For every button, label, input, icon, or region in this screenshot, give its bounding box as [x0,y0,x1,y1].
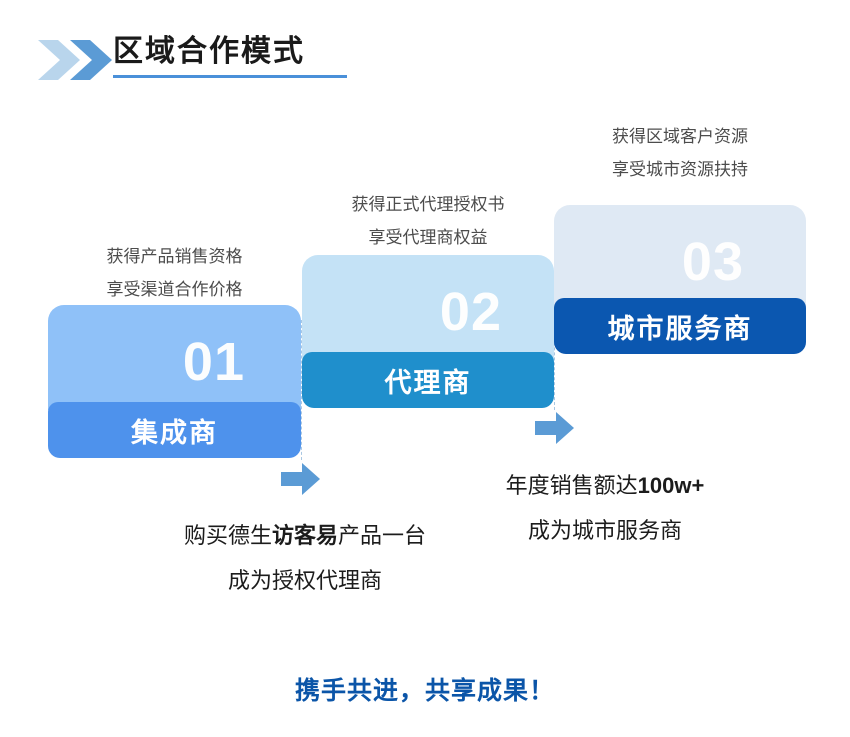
arrow-right-icon-02 [535,411,575,445]
tier-card-03[interactable]: 03 城市服务商 [554,205,806,355]
chevron-light-shape [38,40,80,80]
card-caption-02-line-2: 享受代理商权益 [302,221,554,254]
requirement-01-line-1-emphasis: 访客易 [272,523,338,548]
page-title: 区域合作模式 [113,30,347,74]
card-caption-02-line-1: 获得正式代理授权书 [302,188,554,221]
tier-card-01-number: 01 [183,335,245,389]
card-caption-03: 获得区域客户资源 享受城市资源扶持 [554,120,806,186]
card-caption-01: 获得产品销售资格 享受渠道合作价格 [48,240,301,306]
requirement-01-line-2: 成为授权代理商 [140,558,470,603]
tier-card-01-body: 01 [48,305,301,410]
tier-card-02[interactable]: 02 代理商 [302,255,554,405]
card-caption-02: 获得正式代理授权书 享受代理商权益 [302,188,554,254]
requirement-text-02: 年度销售额达100w+ 成为城市服务商 [440,463,770,553]
requirement-01-line-1-post: 产品一台 [338,523,426,548]
tier-card-03-label-band: 城市服务商 [554,298,806,354]
tier-card-02-number: 02 [440,285,502,339]
requirement-01-line-1: 购买德生访客易产品一台 [140,513,470,558]
tier-card-01[interactable]: 01 集成商 [48,305,301,455]
card-caption-03-line-1: 获得区域客户资源 [554,120,806,153]
infographic-canvas: 区域合作模式 获得产品销售资格 享受渠道合作价格 获得正式代理授权书 享受代理商… [0,0,850,737]
arrow-right-icon-01 [281,462,321,496]
tier-card-03-number: 03 [682,235,744,289]
requirement-02-line-1-pre: 年度销售额达 [506,473,638,498]
requirement-02-line-2: 成为城市服务商 [440,508,770,553]
tier-card-02-label: 代理商 [385,361,472,400]
card-caption-01-line-2: 享受渠道合作价格 [48,273,301,306]
page-title-group: 区域合作模式 [113,30,347,90]
tier-card-03-label: 城市服务商 [608,307,753,346]
tier-card-01-label: 集成商 [131,411,218,450]
tier-card-03-body: 03 [554,205,806,310]
requirement-02-line-1: 年度销售额达100w+ [440,463,770,508]
tier-card-01-label-band: 集成商 [48,402,301,458]
requirement-01-line-1-pre: 购买德生 [184,523,272,548]
requirement-text-01: 购买德生访客易产品一台 成为授权代理商 [140,513,470,603]
tier-card-02-body: 02 [302,255,554,360]
page-header: 区域合作模式 [0,30,850,90]
title-underline [113,75,347,78]
tier-card-02-label-band: 代理商 [302,352,554,408]
footer-slogan: 携手共进，共享成果！ [0,671,850,707]
card-caption-03-line-2: 享受城市资源扶持 [554,153,806,186]
requirement-02-line-1-emphasis: 100w+ [638,473,705,498]
double-chevron-icon [36,38,116,82]
card-caption-01-line-1: 获得产品销售资格 [48,240,301,273]
